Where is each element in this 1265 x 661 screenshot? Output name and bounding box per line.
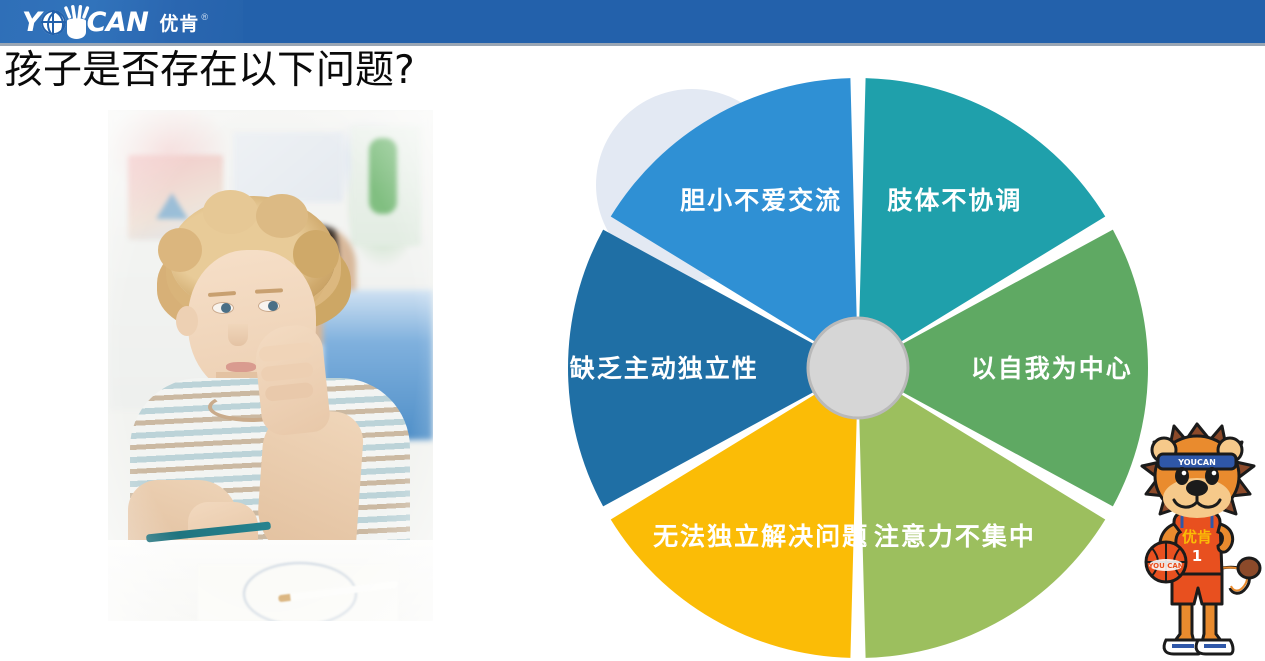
photo-poster-right <box>351 126 421 246</box>
logo-letter-y: Y <box>22 7 41 38</box>
photo-boy-ear <box>176 306 198 336</box>
donut-slice-label: 注意力不集中 <box>874 522 1036 551</box>
photo-boy-mouth <box>226 362 256 372</box>
photo-hair-curl <box>158 228 202 272</box>
brand-logo[interactable]: Y CAN 优肯 ® <box>22 4 208 40</box>
donut-center-hub <box>808 318 908 418</box>
logo-letters-can: CAN <box>87 7 149 38</box>
photo-poster-middle <box>233 132 343 202</box>
youcan-lion-mascot: 优肯 1 YOU CAN YOUCAN <box>1130 418 1265 658</box>
photo-boy-nose <box>228 324 248 346</box>
basketball-icon <box>41 10 66 35</box>
donut-slice-label: 胆小不爱交流 <box>680 186 842 215</box>
photo-boy-eye <box>258 300 280 312</box>
photo-boy-eye <box>212 302 234 314</box>
problems-donut-chart: 缺乏主动独立性胆小不爱交流肢体不协调以自我为中心注意力不集中无法独立解决问题 <box>565 75 1151 661</box>
donut-slice-label: 以自我为中心 <box>971 354 1133 383</box>
donut-slice-label: 无法独立解决问题 <box>653 522 869 551</box>
mascot-headband-text: YOUCAN <box>1177 458 1216 467</box>
raised-hand-icon <box>64 5 90 39</box>
header-divider <box>0 43 1265 46</box>
student-photo <box>108 110 433 621</box>
donut-slice-label: 肢体不协调 <box>887 186 1022 215</box>
mascot-ball-text: YOU CAN <box>1147 562 1183 570</box>
photo-hair-curl <box>203 190 258 234</box>
photo-boy-hand-on-cheek <box>253 323 332 438</box>
photo-hair-curl <box>256 194 308 238</box>
mascot-jersey-text: 优肯 <box>1182 528 1212 546</box>
donut-chart-svg: 缺乏主动独立性胆小不爱交流肢体不协调以自我为中心注意力不集中无法独立解决问题 <box>565 75 1151 661</box>
mascot-jersey-number: 1 <box>1192 547 1202 565</box>
page-title: 孩子是否存在以下问题? <box>4 48 415 94</box>
donut-slice-label: 缺乏主动独立性 <box>570 354 759 383</box>
logo-chinese-name: 优肯 <box>159 9 199 36</box>
registered-mark-icon: ® <box>201 12 208 22</box>
